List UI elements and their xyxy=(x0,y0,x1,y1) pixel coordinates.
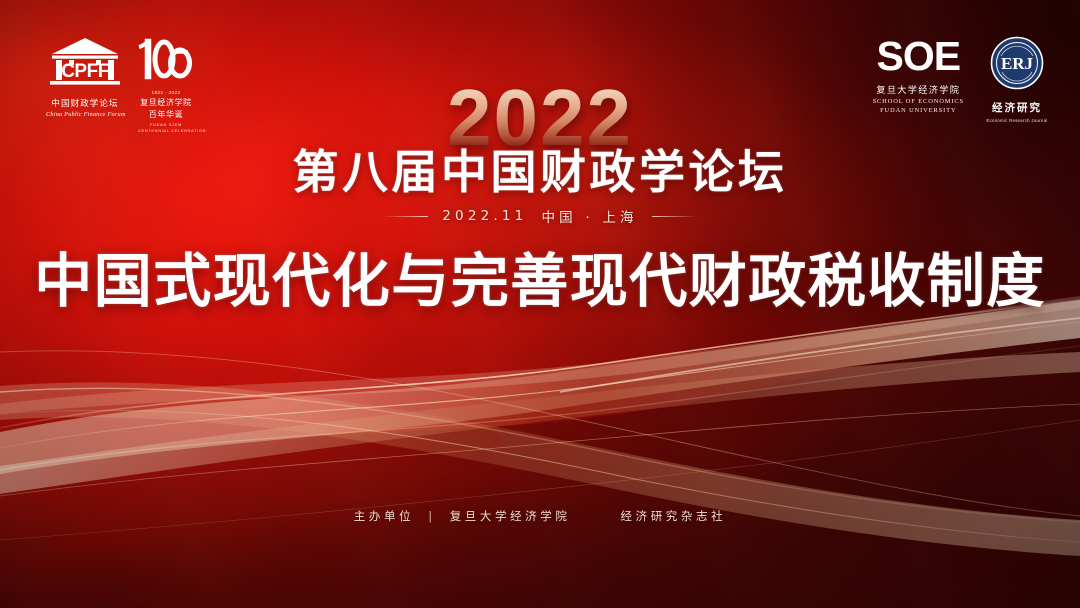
footer-label: 主办单位 xyxy=(354,508,414,524)
forum-title: 第八届中国财政学论坛 xyxy=(0,148,1080,197)
footer-separator: | xyxy=(428,509,435,523)
date-location-bar: 2022.11 中国 · 上海 xyxy=(0,206,1080,226)
footer-organizers: 主办单位 | 复旦大学经济学院 经济研究杂志社 xyxy=(0,508,1080,524)
date-rule-right xyxy=(652,216,698,217)
soe-mark: SOE xyxy=(873,36,964,77)
date-rule-left xyxy=(382,216,428,217)
footer-organizer-2: 经济研究杂志社 xyxy=(621,508,727,524)
poster-canvas: CPFF 中国财政学论坛 China Public Finance Forum xyxy=(0,0,1080,608)
footer-organizer-1: 复旦大学经济学院 xyxy=(450,508,571,524)
location-text: 中国 · 上海 xyxy=(541,206,637,226)
date-text: 2022.11 xyxy=(442,208,527,224)
poster-theme: 中国式现代化与完善现代财政税收制度 xyxy=(0,250,1080,313)
svg-text:ERJ: ERJ xyxy=(1001,54,1034,73)
centennial-100-icon xyxy=(138,36,194,82)
